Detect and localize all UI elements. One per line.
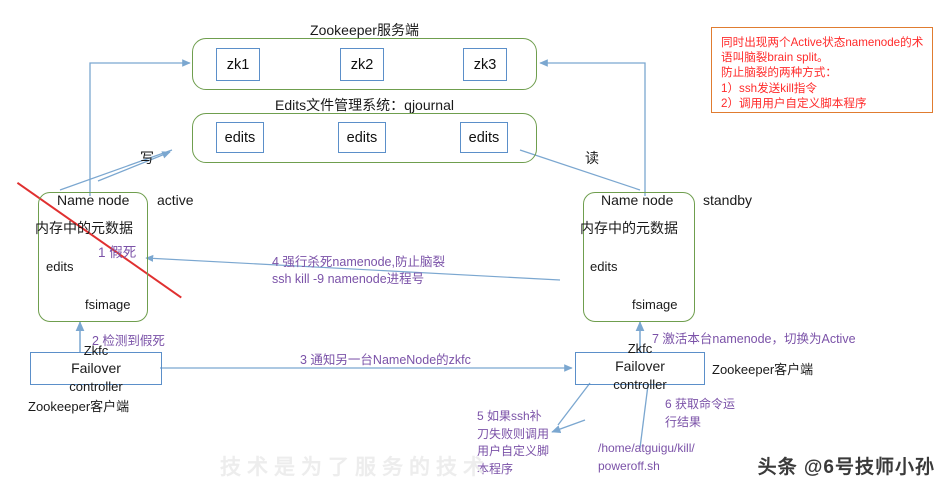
zkfc-left-line1: Zkfc <box>38 343 154 358</box>
zookeeper-band-caption: Zookeeper服务端 <box>192 20 537 40</box>
zk-node-zk2[interactable]: zk2 <box>340 48 384 81</box>
namenode-standby-state: standby <box>703 192 752 208</box>
step-4-label: 4 强行杀死namenode,防止脑裂 ssh kill -9 namenode… <box>272 254 445 287</box>
namenode-standby-metadata: 内存中的元数据 <box>580 218 678 238</box>
zkfc-left-client-label: Zookeeper客户端 <box>28 396 129 415</box>
namenode-active-fsimage: fsimage <box>85 297 131 312</box>
read-label: 读 <box>585 148 599 168</box>
zkfc-right-client-label: Zookeeper客户端 <box>712 359 813 378</box>
namenode-standby-fsimage: fsimage <box>632 297 678 312</box>
namenode-active-metadata: 内存中的元数据 <box>35 218 133 238</box>
qjournal-band-caption: Edits文件管理系统：qjournal <box>192 95 537 115</box>
write-label: 写 <box>140 148 154 168</box>
namenode-active-edits: edits <box>46 259 73 274</box>
brain-split-note-panel: 同时出现两个Active状态namenode的术语叫脑裂brain split。… <box>711 27 933 113</box>
zk-node-zk1[interactable]: zk1 <box>216 48 260 81</box>
step-6-label: 6 获取命令运 行结果 <box>665 396 735 431</box>
step-3-label: 3 通知另一台NameNode的zkfc <box>300 349 471 368</box>
zkfc-right-line3: controller <box>575 377 705 392</box>
edits-node-3[interactable]: edits <box>460 122 508 153</box>
zk-node-zk3[interactable]: zk3 <box>463 48 507 81</box>
zkfc-left-line3: controller <box>30 379 162 394</box>
zkfc-right-line1: Zkfc <box>583 341 697 356</box>
edits-node-1[interactable]: edits <box>216 122 264 153</box>
namenode-standby-edits: edits <box>590 259 617 274</box>
namenode-standby-title: Name node <box>601 192 673 208</box>
script-path-label: /home/atguigu/kill/ poweroff.sh <box>598 440 695 475</box>
edits-node-2[interactable]: edits <box>338 122 386 153</box>
zkfc-left-line2: Failover <box>30 360 162 376</box>
step-1-label: 1 假死 <box>98 241 136 261</box>
zkfc-right-line2: Failover <box>575 358 705 374</box>
namenode-active-state: active <box>157 192 194 208</box>
author-watermark: 头条 @6号技师小孙 <box>758 452 935 479</box>
ghost-watermark: 技术是为了服务的技术 <box>220 451 490 481</box>
namenode-active-title: Name node <box>57 192 129 208</box>
diagram-canvas: Zookeeper服务端 zk1 zk2 zk3 Edits文件管理系统：qjo… <box>0 0 943 483</box>
